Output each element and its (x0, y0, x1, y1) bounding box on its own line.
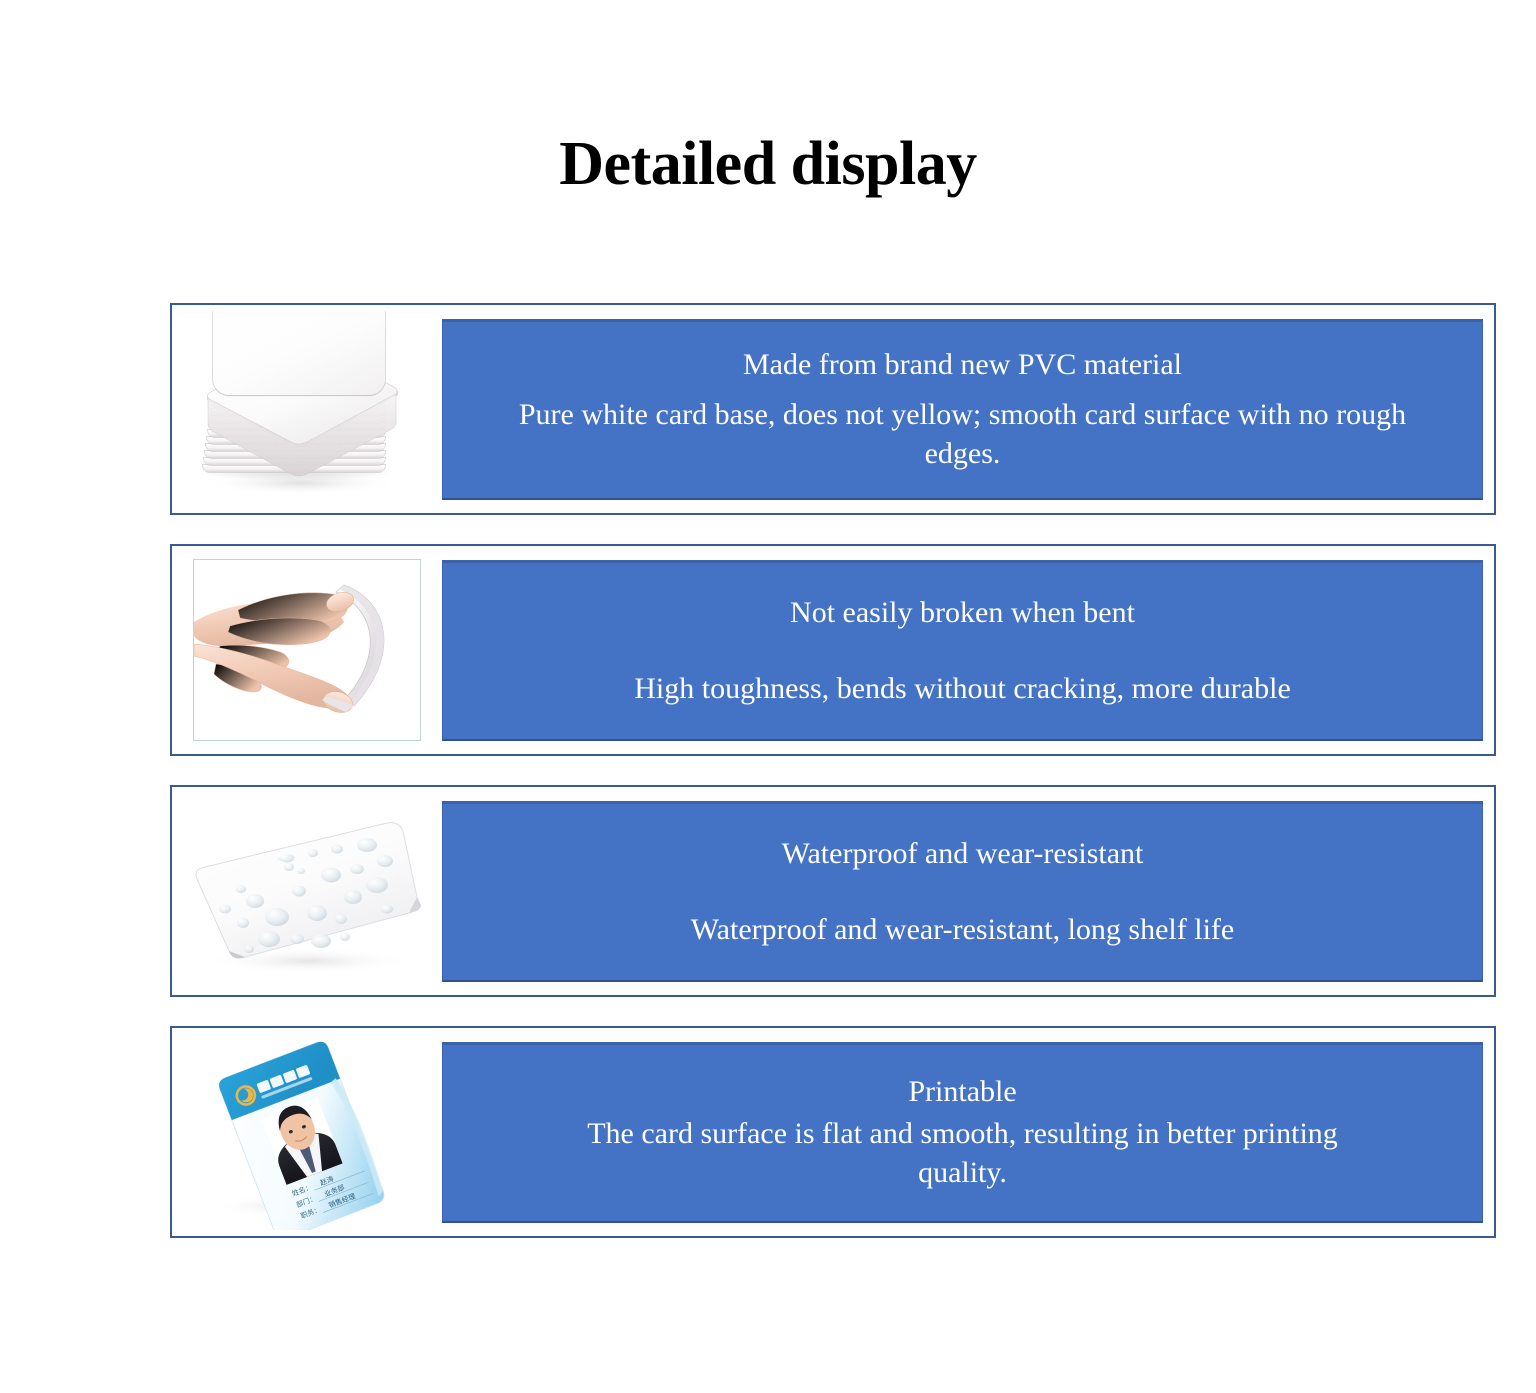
feature-image-cell-printable: 姓名： 赵涛 部门： 业务部 职务： 销售经理 (172, 1028, 442, 1236)
feature-heading-waterproof: Waterproof and wear-resistant (461, 834, 1464, 874)
hand-bending-card-vector (194, 560, 420, 740)
feature-row-printable: 姓名： 赵涛 部门： 业务部 职务： 销售经理 (170, 1026, 1496, 1238)
detailed-display-page: Detailed display (0, 0, 1536, 1393)
feature-heading-pvc-material: Made from brand new PVC material (461, 345, 1464, 385)
feature-heading-printable: Printable (461, 1072, 1464, 1112)
feature-image-cell-bend-resistance (172, 546, 442, 754)
waterproof-card-image (181, 793, 433, 989)
feature-row-waterproof: Waterproof and wear-resistant Waterproof… (170, 785, 1496, 997)
feature-rows-container: Made from brand new PVC material Pure wh… (170, 303, 1496, 1238)
hand-bending-card-image (193, 559, 421, 741)
id-badge-vector: 姓名： 赵涛 部门： 业务部 职务： 销售经理 (181, 1034, 433, 1230)
feature-text-panel-printable: Printable The card surface is flat and s… (442, 1042, 1483, 1223)
waterproof-card-vector (181, 793, 433, 989)
feature-text-panel-waterproof: Waterproof and wear-resistant Waterproof… (442, 801, 1483, 982)
feature-image-cell-pvc-material (172, 305, 442, 513)
feature-body-line1-bend-resistance: High toughness, bends without cracking, … (461, 669, 1464, 709)
pvc-card-stack-image (181, 311, 433, 507)
page-title: Detailed display (0, 128, 1536, 200)
feature-heading-bend-resistance: Not easily broken when bent (461, 593, 1464, 633)
feature-body-line2-pvc-material: edges. (461, 434, 1464, 474)
feature-image-cell-waterproof (172, 787, 442, 995)
feature-body-line2-printable: quality. (461, 1153, 1464, 1193)
feature-text-panel-bend-resistance: Not easily broken when bent High toughne… (442, 560, 1483, 741)
feature-row-pvc-material: Made from brand new PVC material Pure wh… (170, 303, 1496, 515)
feature-body-line1-waterproof: Waterproof and wear-resistant, long shel… (461, 910, 1464, 950)
feature-body-line1-pvc-material: Pure white card base, does not yellow; s… (439, 395, 1486, 435)
feature-row-bend-resistance: Not easily broken when bent High toughne… (170, 544, 1496, 756)
feature-text-panel-pvc-material: Made from brand new PVC material Pure wh… (442, 319, 1483, 500)
printed-id-badge-image: 姓名： 赵涛 部门： 业务部 职务： 销售经理 (181, 1034, 433, 1230)
feature-body-line1-printable: The card surface is flat and smooth, res… (439, 1114, 1486, 1154)
